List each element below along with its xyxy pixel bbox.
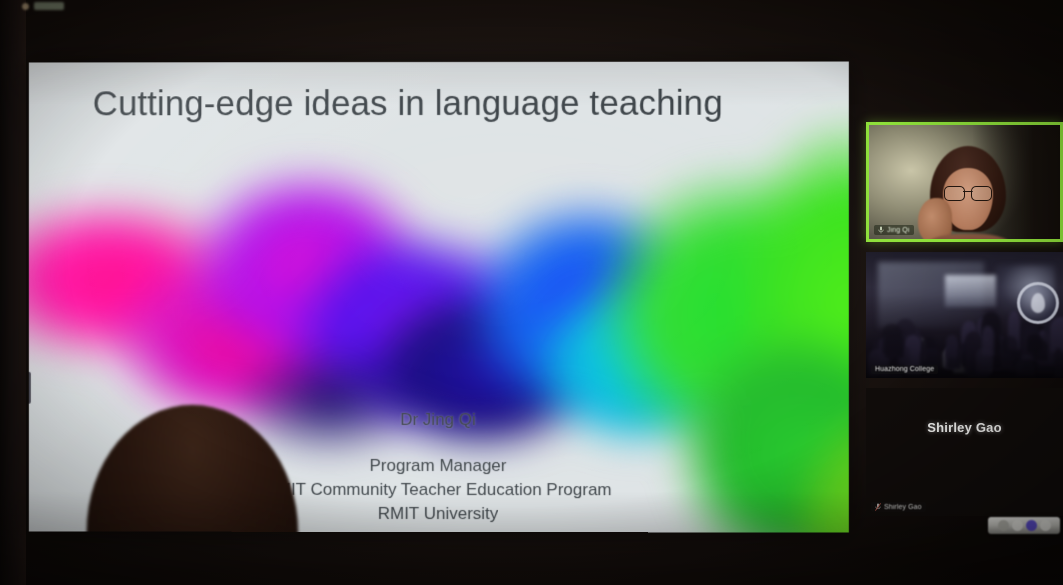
participant-name-label: Huazhong College [875,366,934,373]
participant-name-chip: Shirley Gao [871,502,926,512]
status-led-cluster [22,2,64,10]
participant-video-image [922,146,1014,242]
logo-badge-icon [1017,282,1059,324]
glasses-icon [944,186,992,199]
microphone-muted-icon [875,503,881,511]
power-led-icon [22,3,29,10]
slide-title: Cutting-edge ideas in language teaching [93,84,723,125]
tray-button-4[interactable] [1040,520,1051,531]
projected-screen-photo: Cutting-edge ideas in language teaching … [0,0,1063,585]
microphone-icon [878,226,884,234]
participant-tile-shirley-gao[interactable]: Shirley Gao Shirley Gao [866,388,1063,516]
shared-slide[interactable]: Cutting-edge ideas in language teaching … [29,62,849,533]
participant-tile-huazhong-college[interactable]: Huazhong College [866,252,1063,378]
tray-button-2[interactable] [1012,520,1023,531]
participant-tile-jing-qi[interactable]: Jing Qi [866,122,1063,242]
participant-name-label: Shirley Gao [884,504,922,511]
status-strip-icon [34,2,64,10]
participant-name-chip: Jing Qi [874,225,914,235]
tray-button-1[interactable] [998,520,1009,531]
participant-name-chip: Huazhong College [871,365,938,374]
camera-off-display-name: Shirley Gao [866,420,1063,435]
panel-collapse-handle[interactable] [29,372,31,404]
floating-control-tray[interactable] [988,517,1060,534]
participant-video-column: Jing Qi Huazhong College Shirley Gao [866,0,1063,585]
tray-button-3[interactable] [1026,520,1037,531]
wall-bezel-left [0,0,26,585]
participant-name-label: Jing Qi [887,227,910,234]
